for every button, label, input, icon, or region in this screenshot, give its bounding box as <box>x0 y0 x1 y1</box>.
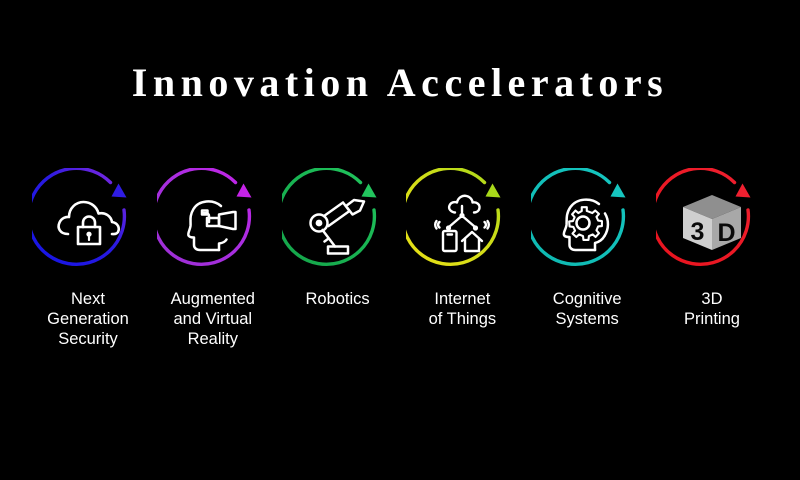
icon-ring-internet-of-things <box>406 168 518 280</box>
icon-ring-augmented-and-virtual-reality <box>157 168 269 280</box>
page-title: Innovation Accelerators <box>0 62 800 104</box>
svg-text:D: D <box>717 219 735 247</box>
accelerator-label: Robotics <box>305 289 369 309</box>
cube-face-digit: 3 <box>691 218 705 246</box>
icon-ring-3d-printing: 3 D <box>656 168 768 280</box>
accelerator-label: Augmented and Virtual Reality <box>171 289 255 349</box>
icon-ring-robotics <box>282 168 394 280</box>
vr-headset-head-icon <box>177 188 249 260</box>
3d-cube-icon: 3 D <box>676 188 748 260</box>
cloud-lock-icon <box>52 188 124 260</box>
accelerator-item-cognitive-systems[interactable]: Cognitive Systems <box>525 168 649 329</box>
accelerator-item-robotics[interactable]: Robotics <box>276 168 400 309</box>
robotic-arm-icon <box>302 188 374 260</box>
accelerator-label: Next Generation Security <box>47 289 129 349</box>
accelerator-label: 3D Printing <box>684 289 740 329</box>
icon-ring-next-generation-security <box>32 168 144 280</box>
accelerator-item-next-generation-security[interactable]: Next Generation Security <box>26 168 150 349</box>
accelerator-label: Internet of Things <box>429 289 497 329</box>
icon-ring-cognitive-systems <box>531 168 643 280</box>
head-gear-brain-icon <box>551 188 623 260</box>
accelerator-item-3d-printing[interactable]: 3 D 3D Printing <box>650 168 774 329</box>
accelerator-row: Next Generation Security <box>26 168 774 378</box>
accelerator-label: Cognitive Systems <box>553 289 622 329</box>
slide-canvas: Innovation Accelerators <box>0 0 800 480</box>
accelerator-item-internet-of-things[interactable]: Internet of Things <box>400 168 524 329</box>
accelerator-item-augmented-and-virtual-reality[interactable]: Augmented and Virtual Reality <box>151 168 275 349</box>
cloud-phone-house-icon <box>426 188 498 260</box>
